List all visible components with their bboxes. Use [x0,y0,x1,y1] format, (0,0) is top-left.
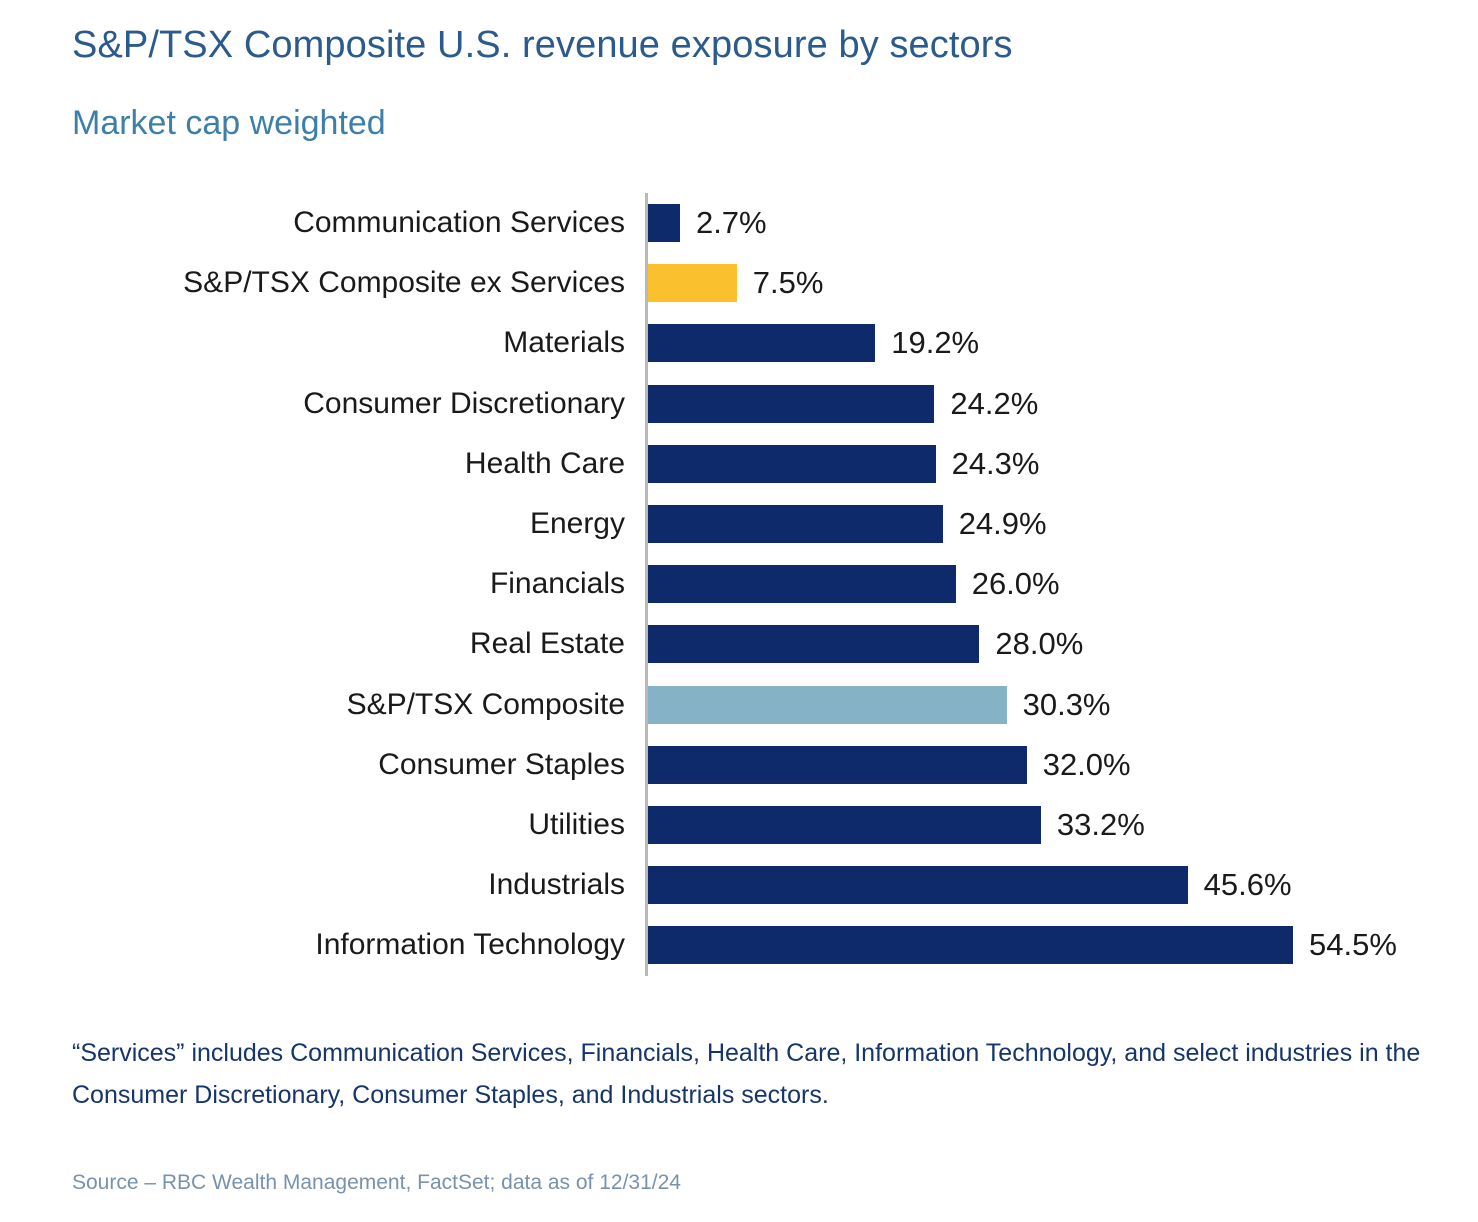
bar-row: Information Technology54.5% [0,915,1478,975]
footnote-definition: “Services” includes Communication Servic… [72,1032,1442,1116]
bar-value-label: 30.3% [1023,675,1111,735]
bar-value-label: 24.9% [959,494,1047,554]
bar-segment [648,565,956,603]
bar-category-label: S&P/TSX Composite [347,675,625,735]
bar-row: Consumer Staples32.0% [0,735,1478,795]
bar-segment [648,686,1007,724]
bar-row: Utilities33.2% [0,795,1478,855]
bar-segment [648,806,1041,844]
bar-category-label: Consumer Discretionary [303,374,625,434]
bar-segment [648,505,943,543]
bar-value-label: 32.0% [1043,735,1131,795]
bar-category-label: Energy [530,494,625,554]
bar-row: S&P/TSX Composite ex Services7.5% [0,253,1478,313]
bar-row: Health Care24.3% [0,434,1478,494]
bar-category-label: Communication Services [293,193,625,253]
bar-segment [648,324,875,362]
bar-value-label: 2.7% [696,193,767,253]
bar-value-label: 54.5% [1309,915,1397,975]
bar-segment [648,866,1188,904]
bar-row: S&P/TSX Composite30.3% [0,675,1478,735]
bar-value-label: 24.3% [952,434,1040,494]
bar-row: Real Estate28.0% [0,614,1478,674]
bar-row: Consumer Discretionary24.2% [0,374,1478,434]
bar-segment [648,625,979,663]
bar-category-label: Real Estate [470,614,625,674]
bar-row: Industrials45.6% [0,855,1478,915]
bar-value-label: 45.6% [1204,855,1292,915]
bar-segment [648,204,680,242]
bar-segment [648,445,936,483]
bar-value-label: 28.0% [995,614,1083,674]
chart-page: S&P/TSX Composite U.S. revenue exposure … [0,0,1478,1222]
bar-category-label: Utilities [528,795,625,855]
bar-category-label: Materials [503,313,625,373]
bar-segment [648,264,737,302]
bar-value-label: 19.2% [891,313,979,373]
bar-category-label: Consumer Staples [378,735,625,795]
bar-value-label: 26.0% [972,554,1060,614]
bar-segment [648,926,1293,964]
bar-category-label: Information Technology [315,915,625,975]
bar-segment [648,385,934,423]
bar-row: Financials26.0% [0,554,1478,614]
bar-value-label: 7.5% [753,253,824,313]
bar-category-label: Financials [490,554,625,614]
page-subtitle: Market cap weighted [72,100,386,146]
bar-category-label: Health Care [465,434,625,494]
bar-row: Energy24.9% [0,494,1478,554]
bar-category-label: S&P/TSX Composite ex Services [183,253,625,313]
bar-rows: Communication Services2.7%S&P/TSX Compos… [0,193,1478,976]
page-title: S&P/TSX Composite U.S. revenue exposure … [72,20,1013,70]
bar-row: Materials19.2% [0,313,1478,373]
bar-value-label: 24.2% [950,374,1038,434]
bar-chart: Communication Services2.7%S&P/TSX Compos… [0,193,1478,976]
bar-category-label: Industrials [488,855,625,915]
source-note: Source – RBC Wealth Management, FactSet;… [72,1168,681,1198]
bar-row: Communication Services2.7% [0,193,1478,253]
bar-value-label: 33.2% [1057,795,1145,855]
bar-segment [648,746,1027,784]
